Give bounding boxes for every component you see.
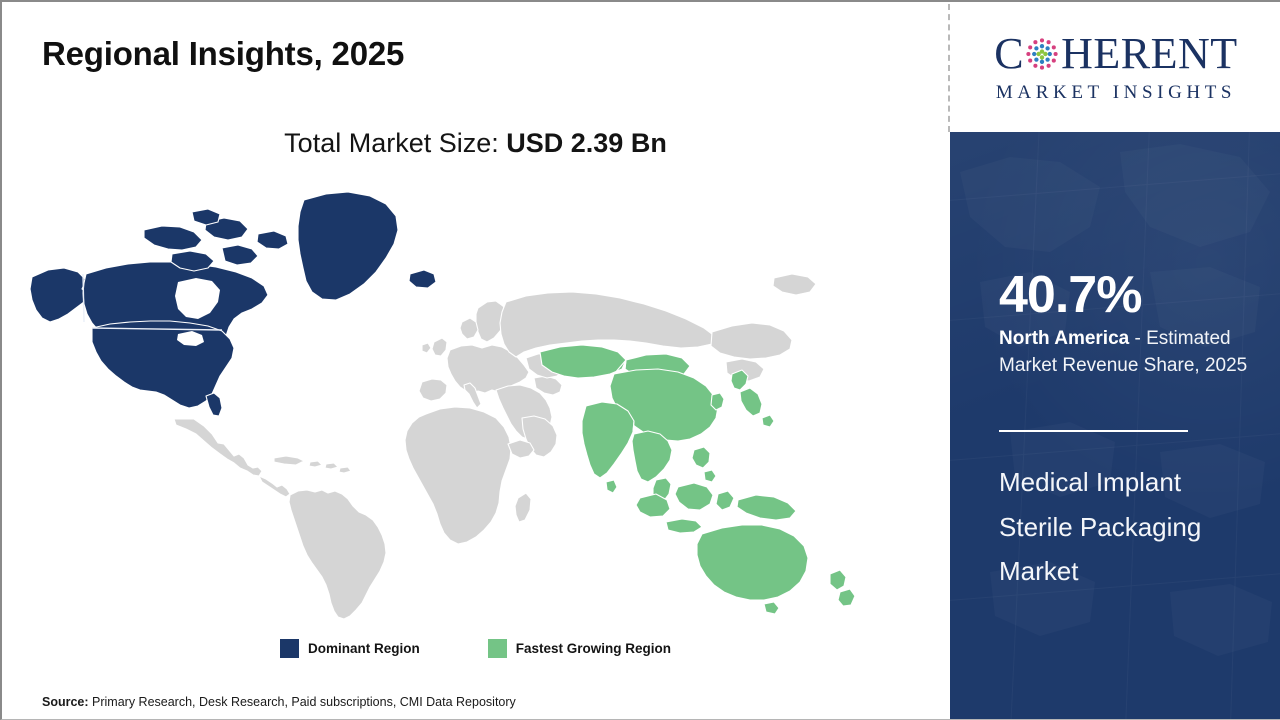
infographic-canvas: Regional Insights, 2025 Total Market Siz…	[0, 0, 1280, 720]
market-title: Medical Implant Sterile Packaging Market	[999, 460, 1237, 594]
legend-label-fastest-growing: Fastest Growing Region	[516, 641, 671, 656]
total-market-size: Total Market Size: USD 2.39 Bn	[2, 128, 949, 159]
map-region-asia-pacific	[540, 345, 855, 614]
map-legend: Dominant Region Fastest Growing Region	[2, 639, 949, 658]
world-map	[26, 182, 906, 622]
regional-share-region-name: North America	[999, 328, 1129, 349]
legend-label-dominant: Dominant Region	[308, 641, 420, 656]
regional-share-percent: 40.7%	[999, 269, 1141, 321]
source-label: Source:	[42, 695, 89, 709]
stat-divider-rule	[999, 430, 1188, 432]
brand-logo-subtitle: MARKET INSIGHTS	[996, 82, 1236, 104]
right-rail: C	[950, 2, 1280, 720]
legend-item-fastest-growing: Fastest Growing Region	[488, 639, 671, 658]
legend-swatch-fastest-growing-icon	[488, 639, 507, 658]
dotted-globe-icon	[1024, 36, 1060, 72]
brand-logo-wordmark: C	[994, 31, 1237, 77]
brand-logo-wordmark-text: HERENT	[1061, 32, 1238, 76]
source-value: Primary Research, Desk Research, Paid su…	[89, 695, 516, 709]
total-market-size-label: Total Market Size:	[284, 128, 499, 158]
regional-share-description: North America - Estimated Market Revenue…	[999, 326, 1261, 380]
left-content-pane: Regional Insights, 2025 Total Market Siz…	[2, 2, 949, 720]
brand-logo: C	[950, 2, 1280, 132]
legend-swatch-dominant-icon	[280, 639, 299, 658]
total-market-size-value: USD 2.39 Bn	[506, 128, 667, 158]
brand-logo-letter-c: C	[994, 32, 1024, 76]
regional-stat-panel: 40.7% North America - Estimated Market R…	[950, 132, 1280, 720]
page-title: Regional Insights, 2025	[42, 35, 404, 73]
source-note: Source: Primary Research, Desk Research,…	[42, 695, 516, 709]
map-region-north-america	[30, 192, 436, 416]
stat-content: 40.7% North America - Estimated Market R…	[999, 132, 1249, 720]
legend-item-dominant: Dominant Region	[280, 639, 420, 658]
